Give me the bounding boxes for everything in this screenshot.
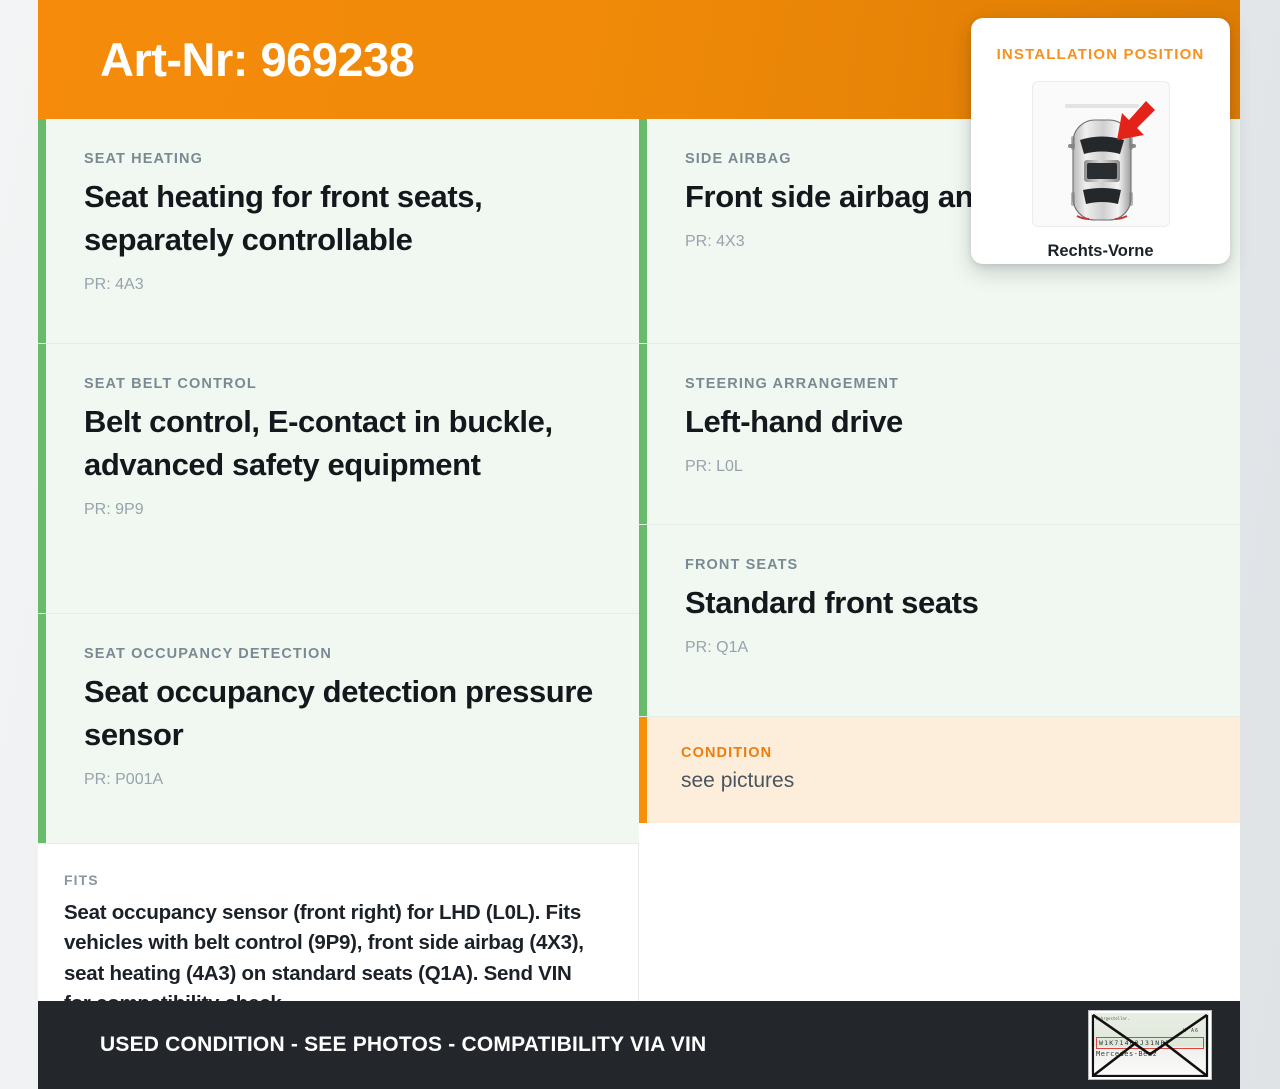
feature-seat-occupancy-detection[interactable]: SEAT OCCUPANCY DETECTION Seat occupancy … <box>38 614 639 844</box>
feature-title: Seat heating for front seats, separately… <box>84 176 595 262</box>
fits-label: FITS <box>64 872 598 888</box>
feature-label: SEAT OCCUPANCY DETECTION <box>84 646 595 662</box>
article-number-title: Art-Nr: 969238 <box>100 32 414 87</box>
product-detail-page: Art-Nr: 969238 SEAT HEATING Seat heating… <box>0 0 1280 1089</box>
feature-front-seats[interactable]: FRONT SEATS Standard front seats PR: Q1A <box>639 525 1240 717</box>
feature-label: SEAT HEATING <box>84 151 595 167</box>
car-top-view-icon <box>1033 82 1171 228</box>
feature-label: STEERING ARRANGEMENT <box>685 376 1196 392</box>
footer-notice: USED CONDITION - SEE PHOTOS - COMPATIBIL… <box>100 1033 706 1057</box>
feature-title: Left-hand drive <box>685 401 1196 444</box>
feature-pr-code: PR: P001A <box>84 771 595 789</box>
feature-pr-code: PR: Q1A <box>685 639 1196 657</box>
installation-position-caption: Rechts-Vorne <box>971 242 1230 261</box>
condition-label: CONDITION <box>681 745 1196 761</box>
page-footer: USED CONDITION - SEE PHOTOS - COMPATIBIL… <box>38 1001 1240 1089</box>
feature-pr-code: PR: 9P9 <box>84 501 595 519</box>
installation-position-figure <box>1032 81 1170 227</box>
feature-title: Standard front seats <box>685 582 1196 625</box>
condition-block[interactable]: CONDITION see pictures <box>639 717 1240 823</box>
feature-title: Seat occupancy detection pressure sensor <box>84 671 595 757</box>
feature-seat-belt-control[interactable]: SEAT BELT CONTROL Belt control, E-contac… <box>38 344 639 614</box>
feature-pr-code: PR: 4A3 <box>84 276 595 294</box>
feature-pr-code: PR: L0L <box>685 458 1196 476</box>
feature-label: FRONT SEATS <box>685 557 1196 573</box>
condition-value: see pictures <box>681 769 1196 793</box>
installation-position-title: INSTALLATION POSITION <box>971 46 1230 63</box>
feature-label: SEAT BELT CONTROL <box>84 376 595 392</box>
feature-steering-arrangement[interactable]: STEERING ARRANGEMENT Left-hand drive PR:… <box>639 344 1240 525</box>
envelope-icon <box>1091 1013 1209 1077</box>
installation-position-card[interactable]: INSTALLATION POSITION <box>971 18 1230 264</box>
feature-title: Belt control, E-contact in buckle, advan… <box>84 401 595 487</box>
vin-document-thumbnail[interactable]: Fahrgestellnr. H A6 W1K71463J31NP7 Merce… <box>1088 1010 1212 1080</box>
registration-document-image: Fahrgestellnr. H A6 W1K71463J31NP7 Merce… <box>1091 1013 1209 1077</box>
feature-seat-heating[interactable]: SEAT HEATING Seat heating for front seat… <box>38 119 639 344</box>
left-feature-column: SEAT HEATING Seat heating for front seat… <box>38 119 639 844</box>
